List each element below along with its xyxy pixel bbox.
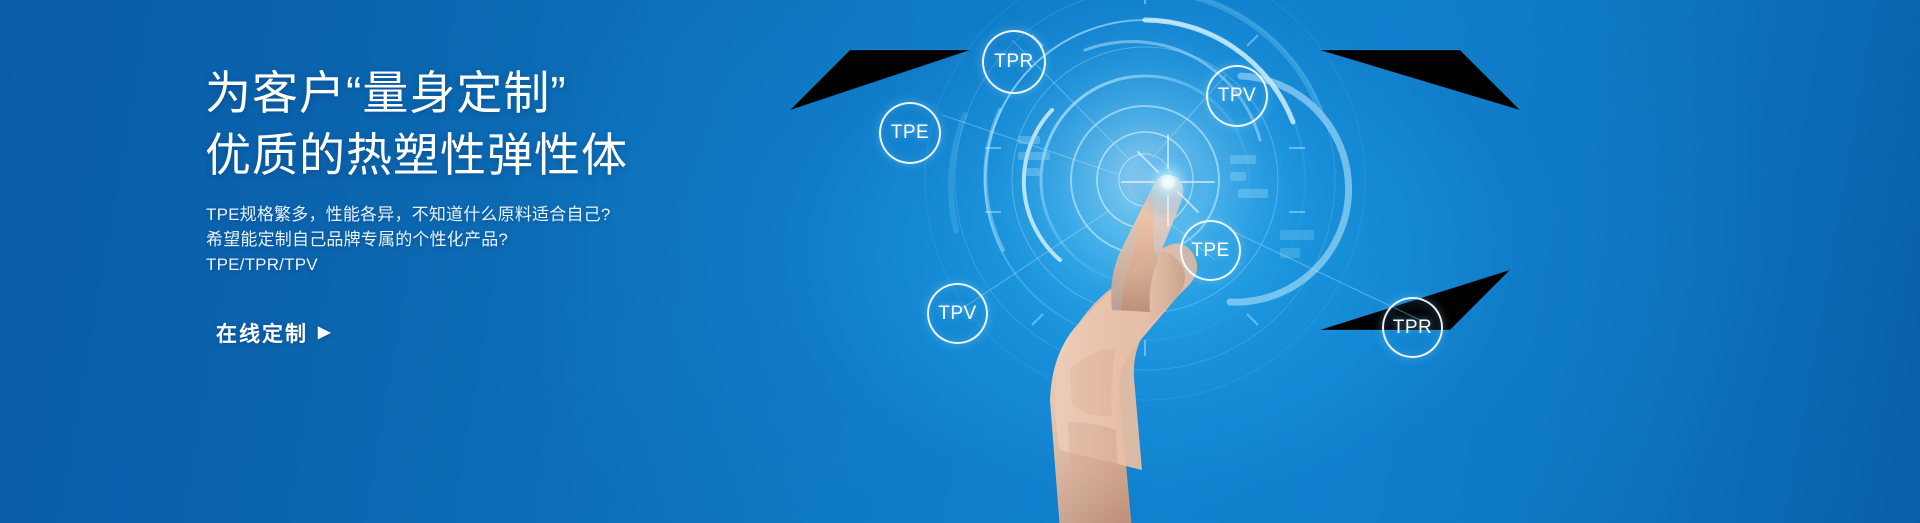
tech-graphic [760, 0, 1920, 523]
hero-banner: TPR TPV TPE TPE TPV TPR 为客户“量身定制” 优质的热塑性… [0, 0, 1920, 523]
badge-label: TPE [1191, 240, 1229, 262]
subtitle-line-2: 希望能定制自己品牌专属的个性化产品? [206, 227, 766, 252]
badge-label: TPV [938, 303, 976, 325]
banner-content: 为客户“量身定制” 优质的热塑性弹性体 TPE规格繁多，性能各异，不知道什么原料… [0, 0, 760, 523]
badge-label: TPR [1393, 317, 1433, 339]
subtitle-line-1: TPE规格繁多，性能各异，不知道什么原料适合自己? [206, 202, 766, 227]
tech-rings-svg [760, 0, 1920, 523]
badge-tpe-2[interactable]: TPE [1180, 220, 1241, 281]
headline-line-1: 为客户“量身定制” [205, 62, 765, 124]
badge-tpr-2[interactable]: TPR [1382, 297, 1443, 358]
badge-tpv-2[interactable]: TPV [927, 283, 988, 344]
badge-label: TPV [1218, 85, 1256, 107]
touch-point [1161, 175, 1175, 189]
badge-tpe-1[interactable]: TPE [879, 102, 941, 164]
headline-line-2: 优质的热塑性弹性体 [205, 124, 765, 186]
touch-glow [1130, 144, 1206, 220]
online-customization-button[interactable]: 在线定制 ▶ [214, 312, 334, 354]
pointing-hand [1050, 175, 1197, 523]
core-halo [895, 0, 1395, 430]
badge-tpv-1[interactable]: TPV [1206, 65, 1268, 127]
badge-tpr-1[interactable]: TPR [982, 30, 1046, 94]
cta-label: 在线定制 [216, 318, 308, 348]
badge-label: TPR [994, 51, 1034, 73]
banner-subtitle: TPE规格繁多，性能各异，不知道什么原料适合自己? 希望能定制自己品牌专属的个性… [206, 202, 766, 277]
play-arrow-icon: ▶ [318, 325, 332, 341]
glow-rays [1122, 135, 1214, 226]
badge-label: TPE [891, 122, 929, 144]
banner-headline: 为客户“量身定制” 优质的热塑性弹性体 [205, 62, 765, 186]
subtitle-line-3: TPE/TPR/TPV [206, 252, 766, 277]
data-blocks [1018, 136, 1314, 359]
grid-plate [790, 50, 1520, 330]
